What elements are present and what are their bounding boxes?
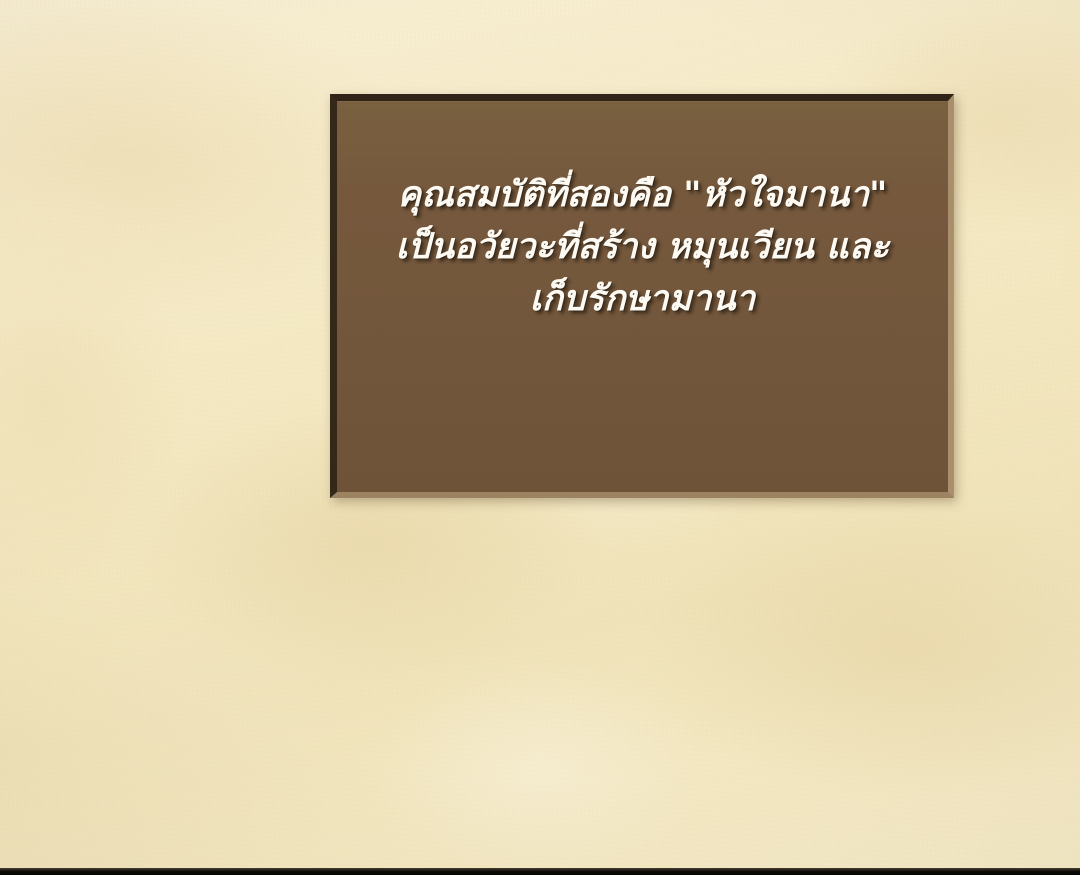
caption-text-block: คุณสมบัติที่สองคือ "หัวใจมานา" เป็นอวัยว… — [337, 169, 948, 325]
caption-line-2: เป็นอวัยวะที่สร้าง หมุนเวียน และ — [351, 221, 934, 273]
comic-page: คุณสมบัติที่สองคือ "หัวใจมานา" เป็นอวัยว… — [0, 0, 1080, 875]
caption-panel: คุณสมบัติที่สองคือ "หัวใจมานา" เป็นอวัยว… — [330, 94, 954, 498]
page-bottom-edge — [0, 868, 1080, 875]
caption-line-3: เก็บรักษามานา — [351, 273, 934, 325]
caption-line-1: คุณสมบัติที่สองคือ "หัวใจมานา" — [351, 169, 934, 221]
